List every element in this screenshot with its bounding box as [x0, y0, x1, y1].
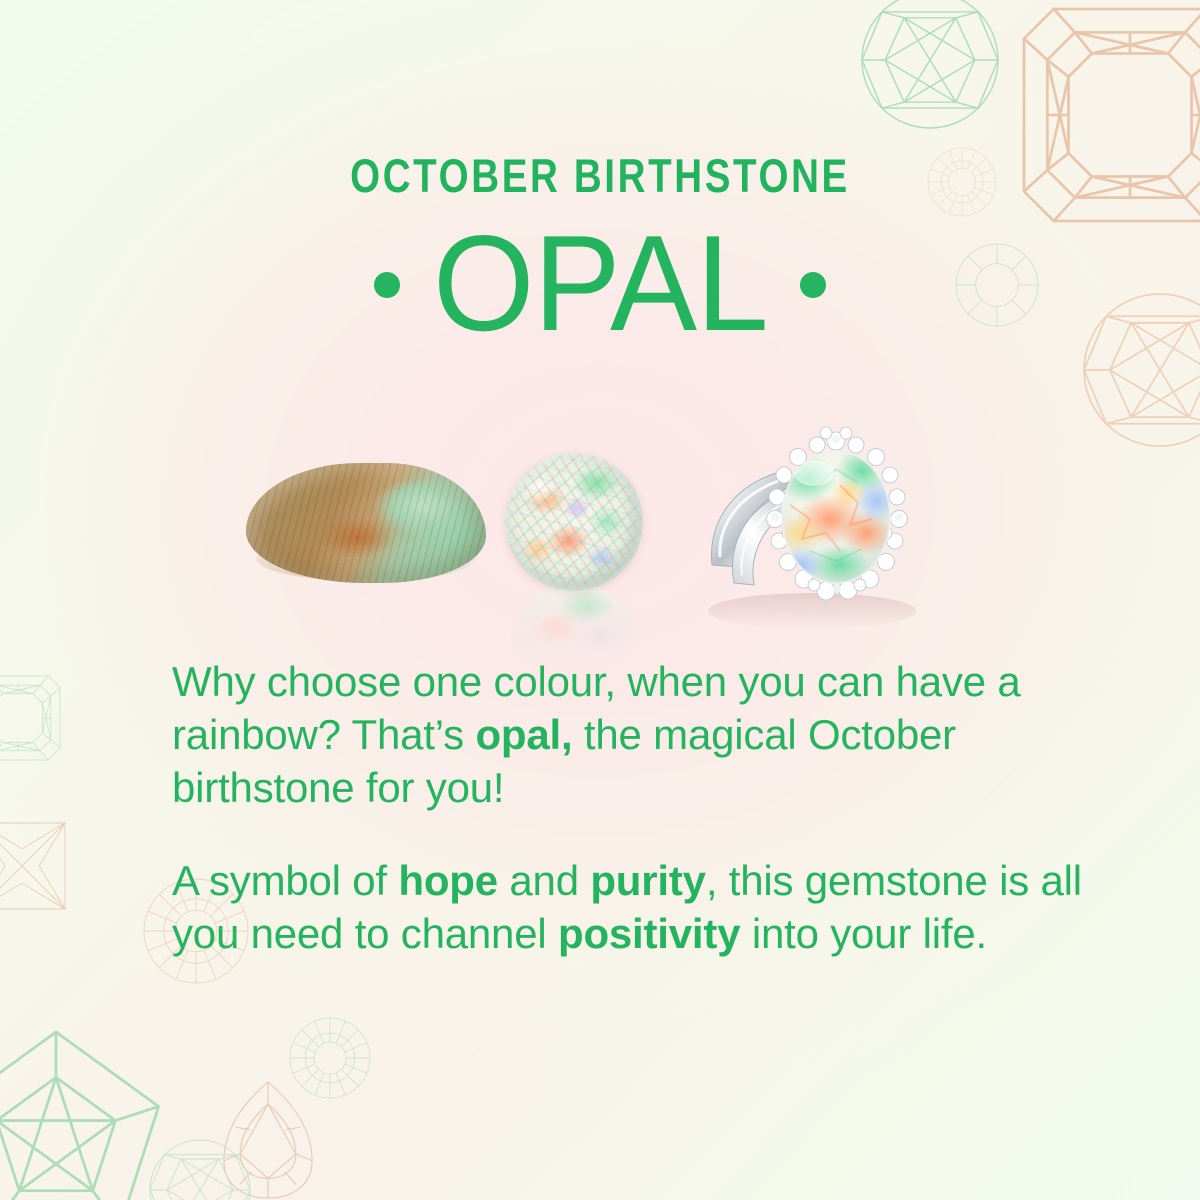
eyebrow-title: OCTOBER BIRTHSTONE: [108, 152, 1092, 199]
ring-shadow: [708, 593, 916, 629]
poster-header: OCTOBER BIRTHSTONE OPAL: [0, 152, 1200, 351]
rough-opal-texture: [246, 463, 486, 583]
polished-opal-cabochon: [505, 453, 643, 591]
deco-square-cut-left: [0, 823, 65, 909]
paragraph-2: A symbol of hope and purity, this gemsto…: [172, 854, 1132, 960]
paragraph-1: Why choose one colour, when you can have…: [172, 655, 1132, 814]
wordmark-text: OPAL: [433, 215, 768, 351]
gemstone-image-row: [0, 415, 1200, 650]
deco-simple-round-bottom-left: [290, 1018, 370, 1098]
deco-round-brilliant-top-right: [862, 0, 998, 128]
p2-part-2: and: [498, 857, 590, 904]
p2-part-1: A symbol of: [172, 857, 398, 904]
wordmark: OPAL: [0, 215, 1200, 351]
p2-bold-purity: purity: [590, 857, 705, 904]
p2-bold-hope: hope: [398, 857, 498, 904]
p2-part-4: into your life.: [740, 910, 987, 957]
deco-penta-cut-bottom-left: [0, 1032, 159, 1200]
deco-emerald-cut-left: [0, 676, 60, 760]
p2-bold-positivity: positivity: [558, 910, 740, 957]
deco-pear-cut-bottom-left: [224, 1082, 312, 1198]
opal-diamond-halo-ring: [690, 415, 920, 640]
rough-opal-specimen: [246, 463, 486, 583]
cabochon-rim-highlight: [505, 453, 643, 591]
deco-brilliant-round-bottom: [150, 1140, 250, 1200]
body-copy: Why choose one colour, when you can have…: [172, 655, 1132, 960]
opal-birthstone-poster: OCTOBER BIRTHSTONE OPAL: [0, 0, 1200, 1200]
p1-bold-opal: opal,: [475, 711, 572, 758]
right-dot-icon: [800, 272, 826, 298]
left-dot-icon: [374, 272, 400, 298]
